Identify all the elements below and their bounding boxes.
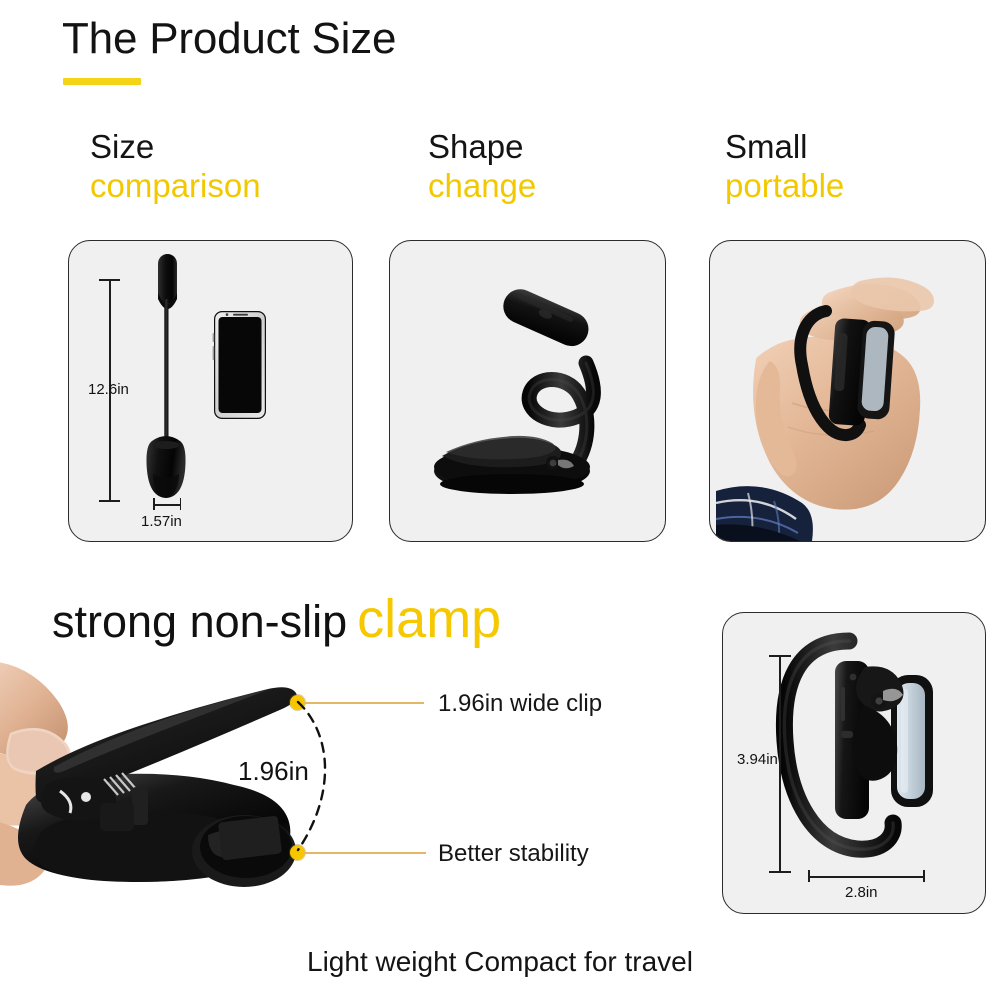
clamp-heading-plain: strong non-slip <box>52 596 347 647</box>
folded-height-cap-bottom <box>769 871 791 873</box>
title-underline-accent <box>63 78 141 85</box>
width-dimension-cap-left <box>153 498 155 510</box>
folded-width-label: 2.8in <box>845 884 878 901</box>
folded-height-cap-top <box>769 655 791 657</box>
folded-height-dimension-line <box>779 655 781 873</box>
shape-change-illustration <box>390 241 665 541</box>
column-heading-shape-top: Shape <box>428 130 536 163</box>
infographic-canvas: The Product Size Size comparison Shape c… <box>0 0 1000 1000</box>
folded-height-label: 3.94in <box>737 751 778 768</box>
column-heading-shape-bottom: change <box>428 169 536 202</box>
width-dimension-label: 1.57in <box>141 513 182 530</box>
panel-folded-dimensions: 3.94in 2.8in <box>722 612 986 914</box>
panel-size-comparison: 12.6in 1.57in <box>68 240 353 542</box>
folded-width-cap-left <box>808 870 810 882</box>
folded-width-dimension-line <box>808 876 925 878</box>
width-dimension-cap-right <box>180 498 182 510</box>
column-heading-small-top: Small <box>725 130 844 163</box>
panel-small-portable <box>709 240 986 542</box>
column-heading-size-top: Size <box>90 130 261 163</box>
hand-holding-illustration <box>710 241 985 541</box>
column-heading-small-bottom: portable <box>725 169 844 202</box>
column-heading-shape: Shape change <box>428 130 536 202</box>
height-dimension-cap-top <box>99 279 120 281</box>
page-title: The Product Size <box>62 14 396 64</box>
height-dimension-label: 12.6in <box>88 381 129 398</box>
callout-label-better-stability: Better stability <box>438 840 589 868</box>
folded-width-cap-right <box>923 870 925 882</box>
width-dimension-line <box>153 504 181 506</box>
column-heading-size: Size comparison <box>90 130 261 202</box>
arc-dimension-label: 1.96in <box>238 756 309 787</box>
footer-tagline: Light weight Compact for travel <box>0 946 1000 978</box>
height-dimension-cap-bottom <box>99 500 120 502</box>
panel-shape-change <box>389 240 666 542</box>
callout-label-wide-clip: 1.96in wide clip <box>438 690 602 718</box>
column-heading-size-bottom: comparison <box>90 169 261 202</box>
clamp-section-heading: strong non-slipclamp <box>52 592 501 646</box>
column-heading-small: Small portable <box>725 130 844 202</box>
clamp-heading-accent: clamp <box>357 589 501 649</box>
